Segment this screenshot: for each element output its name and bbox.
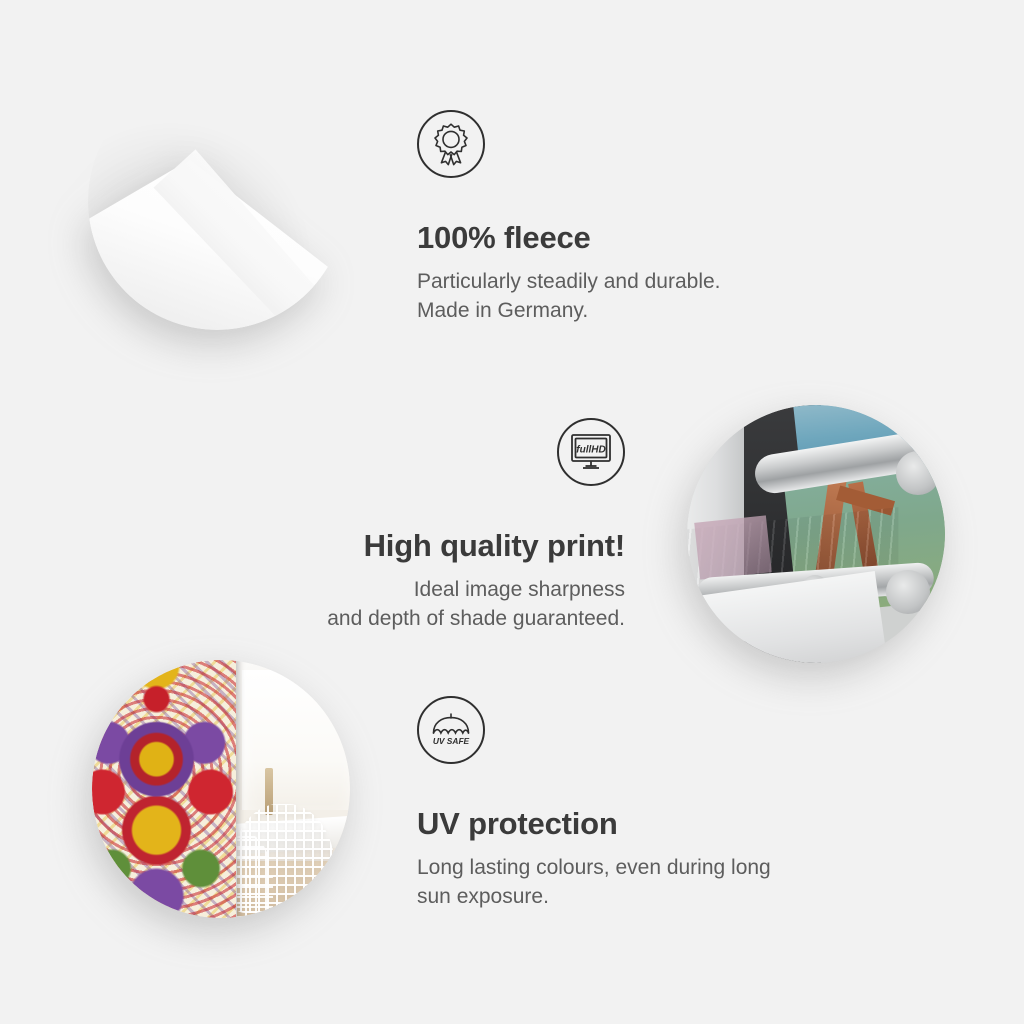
feature-block-uv: UV SAFE UV protection Long lasting colou… (417, 696, 857, 911)
uv-safe-label: UV SAFE (433, 736, 470, 746)
photo-mandala-wallpaper-room (92, 660, 350, 918)
photo-printer-inner (687, 405, 945, 663)
feature-body: Long lasting colours, even during long s… (417, 854, 857, 911)
photo-fleece-inner (88, 72, 346, 330)
feature-heading: UV protection (417, 806, 857, 842)
award-rosette-icon (417, 110, 485, 178)
print-icon-wrap: fullHD (205, 418, 625, 486)
feature-block-print: fullHD High quality print! Ideal image s… (205, 418, 625, 633)
uv-icon-wrap: UV SAFE (417, 696, 857, 764)
feature-heading: 100% fleece (417, 220, 837, 256)
fullhd-monitor-icon: fullHD (557, 418, 625, 486)
feature-body: Ideal image sharpness and depth of shade… (205, 576, 625, 633)
feature-graphic-stage: 100% fleece Particularly steadily and du… (0, 0, 1024, 1024)
feature-block-fleece: 100% fleece Particularly steadily and du… (417, 110, 837, 325)
feature-heading: High quality print! (205, 528, 625, 564)
feature-body: Particularly steadily and durable. Made … (417, 268, 837, 325)
printer-roller-cap-b (886, 570, 930, 614)
fullhd-label-part1: fullHD (576, 444, 605, 455)
printer-glass-panel (695, 515, 773, 579)
mandala-pattern (92, 660, 236, 918)
mandala-wallpaper-panel (92, 660, 236, 918)
printer-roller-cap-a (896, 451, 940, 495)
uv-safe-umbrella-icon: UV SAFE (417, 696, 485, 764)
room-window (242, 670, 350, 820)
photo-peeling-fleece-wallpaper (88, 72, 346, 330)
fleece-icon-wrap (417, 110, 837, 178)
photo-room-inner (92, 660, 350, 918)
photo-large-format-printer (687, 405, 945, 663)
